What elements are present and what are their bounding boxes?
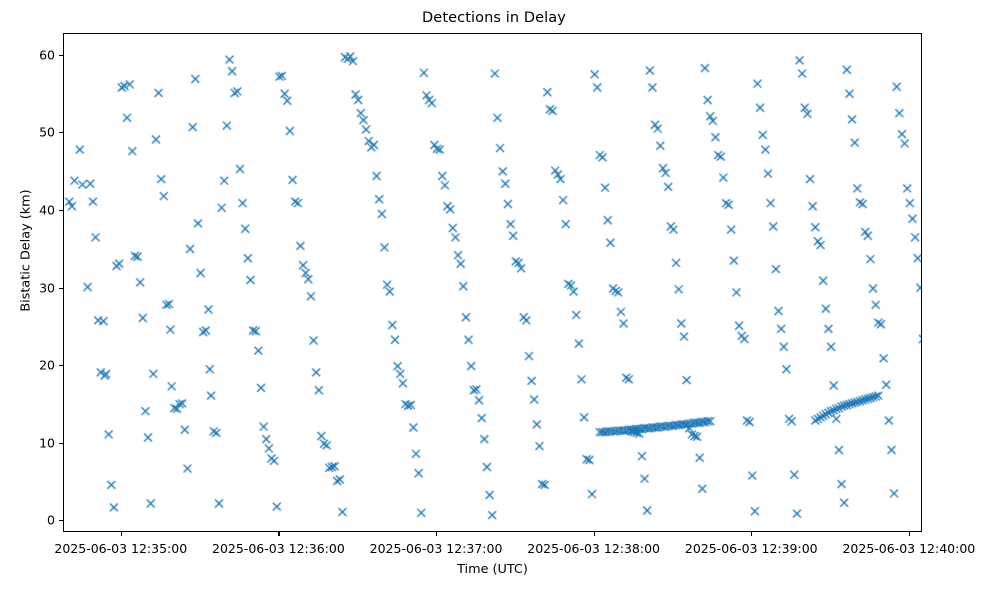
x-tick-label: 2025-06-03 12:38:00 (527, 541, 660, 556)
y-axis-label: Bistatic Delay (km) (19, 141, 34, 361)
x-tick-label: 2025-06-03 12:39:00 (685, 541, 818, 556)
x-tick-mark (594, 532, 595, 536)
y-tick-mark (59, 520, 63, 521)
y-tick-mark (59, 55, 63, 56)
scatter-plot-canvas (64, 34, 922, 532)
chart-title: Detections in Delay (0, 10, 988, 26)
y-tick-mark (59, 365, 63, 366)
x-tick-label: 2025-06-03 12:37:00 (370, 541, 503, 556)
y-tick-label: 0 (15, 513, 55, 528)
x-tick-label: 2025-06-03 12:35:00 (54, 541, 187, 556)
plot-axes (63, 33, 922, 532)
x-tick-label: 2025-06-03 12:40:00 (842, 541, 975, 556)
x-tick-mark (909, 532, 910, 536)
x-tick-mark (121, 532, 122, 536)
y-tick-mark (59, 288, 63, 289)
y-tick-mark (59, 210, 63, 211)
y-tick-label: 10 (15, 435, 55, 450)
y-tick-mark (59, 132, 63, 133)
matplotlib-figure: Detections in Delay 0102030405060 2025-0… (0, 0, 988, 590)
x-tick-mark (436, 532, 437, 536)
x-tick-mark (751, 532, 752, 536)
x-tick-label: 2025-06-03 12:36:00 (212, 541, 345, 556)
x-tick-mark (278, 532, 279, 536)
y-tick-label: 50 (15, 125, 55, 140)
y-tick-mark (59, 443, 63, 444)
y-tick-label: 60 (15, 47, 55, 62)
x-axis-label: Time (UTC) (63, 562, 922, 577)
